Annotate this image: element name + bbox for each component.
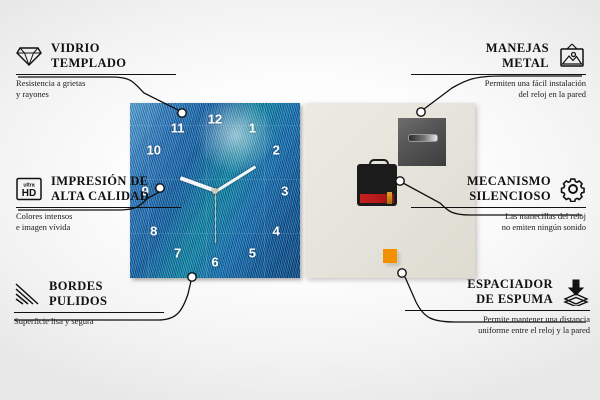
clock-mechanism-box <box>357 164 397 206</box>
callout-divider <box>16 207 181 208</box>
callout-title-line2: PULIDOS <box>49 294 107 309</box>
ultra-hd-icon: ultra HD <box>16 177 42 201</box>
callout-impresion-alta-calidad: ultra HD IMPRESIÓN DE ALTA CALIDAD Color… <box>16 174 181 233</box>
hanging-picture-icon <box>558 43 586 69</box>
callout-title-line1: MECANISMO <box>467 174 551 189</box>
callout-header: MANEJAS METAL <box>411 41 586 71</box>
callout-title-line1: BORDES <box>49 279 107 294</box>
callout-title: ESPACIADOR DE ESPUMA <box>467 277 553 307</box>
callout-bordes-pulidos: BORDES PULIDOS Superficie lisa y segura <box>14 279 164 327</box>
hanger-slot <box>408 134 438 142</box>
clock-numeral-6: 6 <box>211 256 218 269</box>
callout-title-line1: ESPACIADOR <box>467 277 553 292</box>
polished-edges-icon <box>14 282 40 306</box>
callout-divider <box>411 207 586 208</box>
foam-spacer-pad <box>383 249 397 263</box>
callout-header: ESPACIADOR DE ESPUMA <box>405 277 590 307</box>
clock-center-hub <box>212 188 218 194</box>
metal-hanger-plate <box>398 118 446 166</box>
diamond-icon <box>16 45 42 67</box>
clock-numeral-12: 12 <box>208 113 222 126</box>
callout-divider <box>16 74 176 75</box>
clock-numeral-3: 3 <box>281 184 288 197</box>
callout-description: Superficie lisa y segura <box>14 316 164 327</box>
gear-icon <box>560 176 586 202</box>
callout-title-line2: DE ESPUMA <box>467 292 553 307</box>
callout-description: Las manecillas del reloj no emiten ningú… <box>411 211 586 234</box>
callout-header: ultra HD IMPRESIÓN DE ALTA CALIDAD <box>16 174 181 204</box>
callout-header: BORDES PULIDOS <box>14 279 164 309</box>
foam-spacer-icon <box>562 278 590 306</box>
callout-vidrio-templado: VIDRIO TEMPLADO Resistencia a grietas y … <box>16 41 176 100</box>
callout-title: MANEJAS METAL <box>486 41 549 71</box>
callout-title-line1: IMPRESIÓN DE <box>51 174 149 189</box>
clock-numeral-11: 11 <box>171 122 185 135</box>
callout-title: IMPRESIÓN DE ALTA CALIDAD <box>51 174 149 204</box>
callout-header: VIDRIO TEMPLADO <box>16 41 176 71</box>
clock-numeral-4: 4 <box>273 225 280 238</box>
battery <box>387 192 392 204</box>
callout-title: BORDES PULIDOS <box>49 279 107 309</box>
callout-description: Permite mantener una distancia uniforme … <box>405 314 590 337</box>
callout-manejas-metal: MANEJAS METAL Permiten una fácil instala… <box>411 41 586 100</box>
mechanism-hook <box>369 159 389 168</box>
callout-title-line1: VIDRIO <box>51 41 126 56</box>
callout-title-line2: SILENCIOSO <box>467 189 551 204</box>
callout-description: Resistencia a grietas y rayones <box>16 78 176 101</box>
callout-title-line2: METAL <box>486 56 549 71</box>
callout-title: MECANISMO SILENCIOSO <box>467 174 551 204</box>
callout-title-line2: ALTA CALIDAD <box>51 189 149 204</box>
callout-divider <box>14 312 164 313</box>
callout-title-line1: MANEJAS <box>486 41 549 56</box>
callout-espaciador-espuma: ESPACIADOR DE ESPUMA Permite mantener un… <box>405 277 590 336</box>
callout-title-line2: TEMPLADO <box>51 56 126 71</box>
clock-numeral-5: 5 <box>249 247 256 260</box>
callout-description: Colores intensos e imagen vívida <box>16 211 181 234</box>
callout-title: VIDRIO TEMPLADO <box>51 41 126 71</box>
ultra-hd-icon-bottom-text: HD <box>22 188 36 199</box>
callout-mecanismo-silencioso: MECANISMO SILENCIOSO Las manecillas del … <box>411 174 586 233</box>
callout-divider <box>411 74 586 75</box>
clock-numeral-2: 2 <box>273 144 280 157</box>
infographic-canvas: 12 1 2 3 4 5 6 7 8 9 10 11 <box>0 0 600 400</box>
clock-numeral-7: 7 <box>174 247 181 260</box>
callout-divider <box>405 310 590 311</box>
callout-header: MECANISMO SILENCIOSO <box>411 174 586 204</box>
clock-numeral-10: 10 <box>147 144 161 157</box>
clock-numeral-1: 1 <box>249 122 256 135</box>
callout-description: Permiten una fácil instalación del reloj… <box>411 78 586 101</box>
